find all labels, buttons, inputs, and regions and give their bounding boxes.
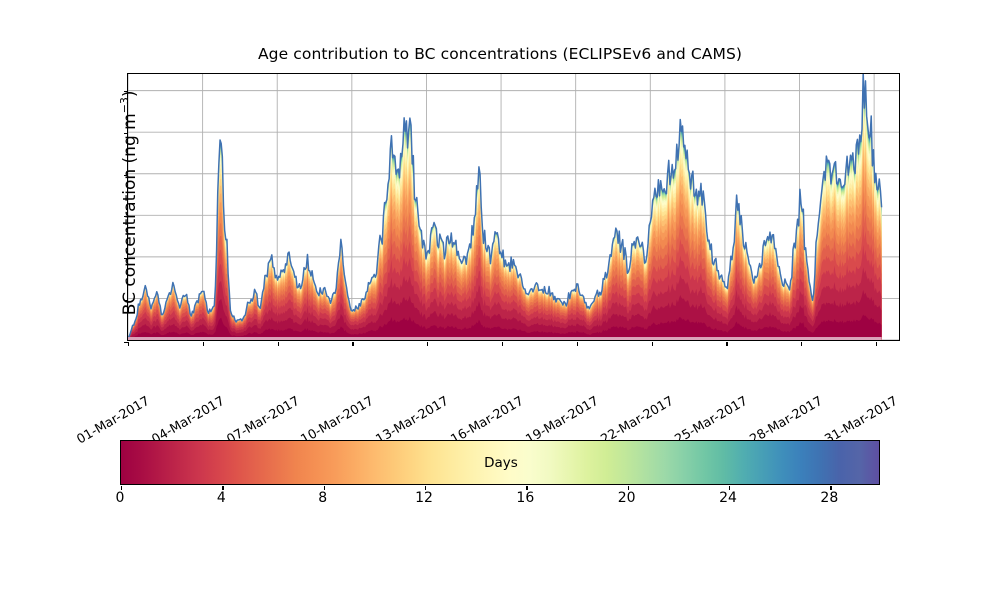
x-tick-mark [652,342,653,346]
y-axis-label-text: BC concentration (ng m [120,113,140,315]
colorbar-gradient [121,441,879,484]
stacked-age-bands [128,74,882,340]
baseline-strip [128,337,882,340]
y-axis-label-exponent: −3 [118,97,131,113]
colorbar-tick-label: 20 [618,490,636,506]
area-chart-plot [128,74,899,340]
y-axis-label-close: ) [120,90,140,97]
colorbar: Days [120,440,880,485]
colorbar-tick-label: 0 [116,490,125,506]
colorbar-tick-label: 28 [820,490,838,506]
x-tick-label: 31-Mar-2017 [893,353,971,407]
chart-title: Age contribution to BC concentrations (E… [0,45,1000,63]
x-tick-mark [427,342,428,346]
x-tick-mark [278,342,279,346]
plot-axes: 050100150200250300 01-Mar-201704-Mar-201… [127,73,900,341]
figure-canvas: Age contribution to BC concentrations (E… [0,0,1000,600]
x-tick-mark [577,342,578,346]
colorbar-tick-label: 24 [719,490,737,506]
colorbar-tick-label: 12 [415,490,433,506]
colorbar-tick-label: 16 [516,490,534,506]
x-tick-mark [352,342,353,346]
x-tick-mark [203,342,204,346]
x-tick-mark [876,342,877,346]
y-axis-label: BC concentration (ng m−3) [118,0,140,418]
x-tick-mark [502,342,503,346]
x-tick-mark [801,342,802,346]
colorbar-tick-label: 4 [217,490,226,506]
x-tick-mark [726,342,727,346]
colorbar-tick-label: 8 [318,490,327,506]
